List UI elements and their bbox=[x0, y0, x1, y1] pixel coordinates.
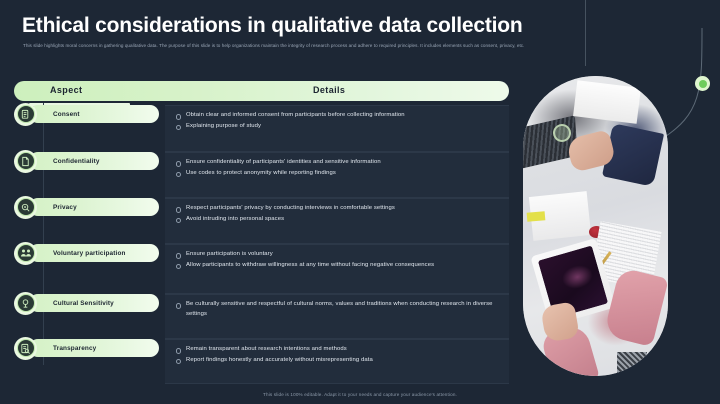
details-list: Remain transparent about research intent… bbox=[175, 345, 501, 365]
consent-document-icon-inner bbox=[17, 105, 35, 123]
detail-bullet: Be culturally sensitive and respectful o… bbox=[175, 300, 501, 319]
row-details-cell: Respect participants' privacy by conduct… bbox=[165, 198, 509, 244]
slide-root: Ethical considerations in qualitative da… bbox=[0, 0, 720, 404]
transparency-report-icon bbox=[14, 337, 37, 360]
green-accent-dot-core bbox=[699, 80, 707, 88]
detail-bullet: Allow participants to withdraw willingne… bbox=[175, 261, 501, 271]
column-header-aspect: Aspect bbox=[50, 85, 82, 95]
photo-printed-chart bbox=[617, 352, 647, 376]
details-list: Be culturally sensitive and respectful o… bbox=[175, 300, 501, 319]
page-title: Ethical considerations in qualitative da… bbox=[22, 14, 562, 37]
transparency-report-icon-inner bbox=[17, 339, 35, 357]
row-details-cell: Ensure participation is voluntary Allow … bbox=[165, 244, 509, 294]
ethics-table: Aspect Details bbox=[14, 81, 509, 103]
aspect-label: Voluntary participation bbox=[29, 250, 126, 257]
detail-bullet: Respect participants' privacy by conduct… bbox=[175, 204, 501, 214]
detail-bullet: Ensure confidentiality of participants' … bbox=[175, 158, 501, 168]
row-details-cell: Be culturally sensitive and respectful o… bbox=[165, 294, 509, 339]
aspect-pill[interactable]: Voluntary participation bbox=[29, 244, 159, 262]
voluntary-participation-people-icon-inner bbox=[17, 244, 35, 262]
footer-note: This slide is 100% editable. Adapt it to… bbox=[0, 392, 720, 397]
confidentiality-file-icon-inner bbox=[17, 152, 35, 170]
aspect-label: Confidentiality bbox=[29, 158, 100, 165]
aspect-label: Transparency bbox=[29, 345, 96, 352]
detail-bullet: Remain transparent about research intent… bbox=[175, 345, 501, 355]
aspect-pill[interactable]: Transparency bbox=[29, 339, 159, 357]
table-row[interactable]: Transparency Remain transparent about re… bbox=[14, 339, 509, 384]
details-list: Respect participants' privacy by conduct… bbox=[175, 204, 501, 224]
photo-paper bbox=[573, 80, 641, 124]
aspect-label: Cultural Sensitivity bbox=[29, 300, 114, 307]
table-row[interactable]: Cultural Sensitivity Be culturally sensi… bbox=[14, 294, 509, 339]
detail-bullet: Ensure participation is voluntary bbox=[175, 250, 501, 260]
aspect-pill[interactable]: Consent bbox=[29, 105, 159, 123]
photo-surface bbox=[523, 76, 668, 376]
details-list: Obtain clear and informed consent from p… bbox=[175, 111, 501, 131]
voluntary-participation-people-icon bbox=[14, 242, 37, 265]
photo-laptop bbox=[523, 115, 578, 168]
detail-bullet: Report findings honestly and accurately … bbox=[175, 356, 501, 366]
decorative-vertical-line bbox=[585, 0, 586, 66]
detail-bullet: Use codes to protect anonymity while rep… bbox=[175, 169, 501, 179]
photo-sticky-note bbox=[527, 211, 546, 222]
table-header-pill bbox=[14, 81, 509, 101]
row-details-cell: Ensure confidentiality of participants' … bbox=[165, 152, 509, 198]
green-accent-dot bbox=[695, 76, 710, 91]
consent-document-icon bbox=[14, 103, 37, 126]
confidentiality-file-icon bbox=[14, 150, 37, 173]
row-details-cell: Remain transparent about research intent… bbox=[165, 339, 509, 384]
aspect-pill[interactable]: Confidentiality bbox=[29, 152, 159, 170]
detail-bullet: Explaining purpose of study bbox=[175, 122, 501, 132]
detail-bullet: Obtain clear and informed consent from p… bbox=[175, 111, 501, 121]
details-list: Ensure confidentiality of participants' … bbox=[175, 158, 501, 178]
details-list: Ensure participation is voluntary Allow … bbox=[175, 250, 501, 270]
cultural-sensitivity-globe-icon bbox=[14, 292, 37, 315]
table-row[interactable]: Confidentiality Ensure confidentiality o… bbox=[14, 152, 509, 198]
table-header-row: Aspect Details bbox=[14, 81, 509, 103]
cultural-sensitivity-globe-icon-inner bbox=[17, 294, 35, 312]
table-row[interactable]: Privacy Respect participants' privacy by… bbox=[14, 198, 509, 244]
table-body: Consent Obtain clear and informed consen… bbox=[14, 105, 509, 384]
privacy-lock-icon bbox=[14, 196, 37, 219]
detail-bullet: Avoid intruding into personal spaces bbox=[175, 215, 501, 225]
row-details-cell: Obtain clear and informed consent from p… bbox=[165, 105, 509, 152]
column-header-details: Details bbox=[313, 85, 345, 95]
business-team-reviewing-documents-photo bbox=[523, 76, 668, 376]
aspect-pill[interactable]: Privacy bbox=[29, 198, 159, 216]
privacy-lock-icon-inner bbox=[17, 198, 35, 216]
page-subtitle: This slide highlights moral concerns in … bbox=[23, 42, 583, 49]
table-row[interactable]: Consent Obtain clear and informed consen… bbox=[14, 105, 509, 152]
aspect-pill[interactable]: Cultural Sensitivity bbox=[29, 294, 159, 312]
table-row[interactable]: Voluntary participation Ensure participa… bbox=[14, 244, 509, 294]
